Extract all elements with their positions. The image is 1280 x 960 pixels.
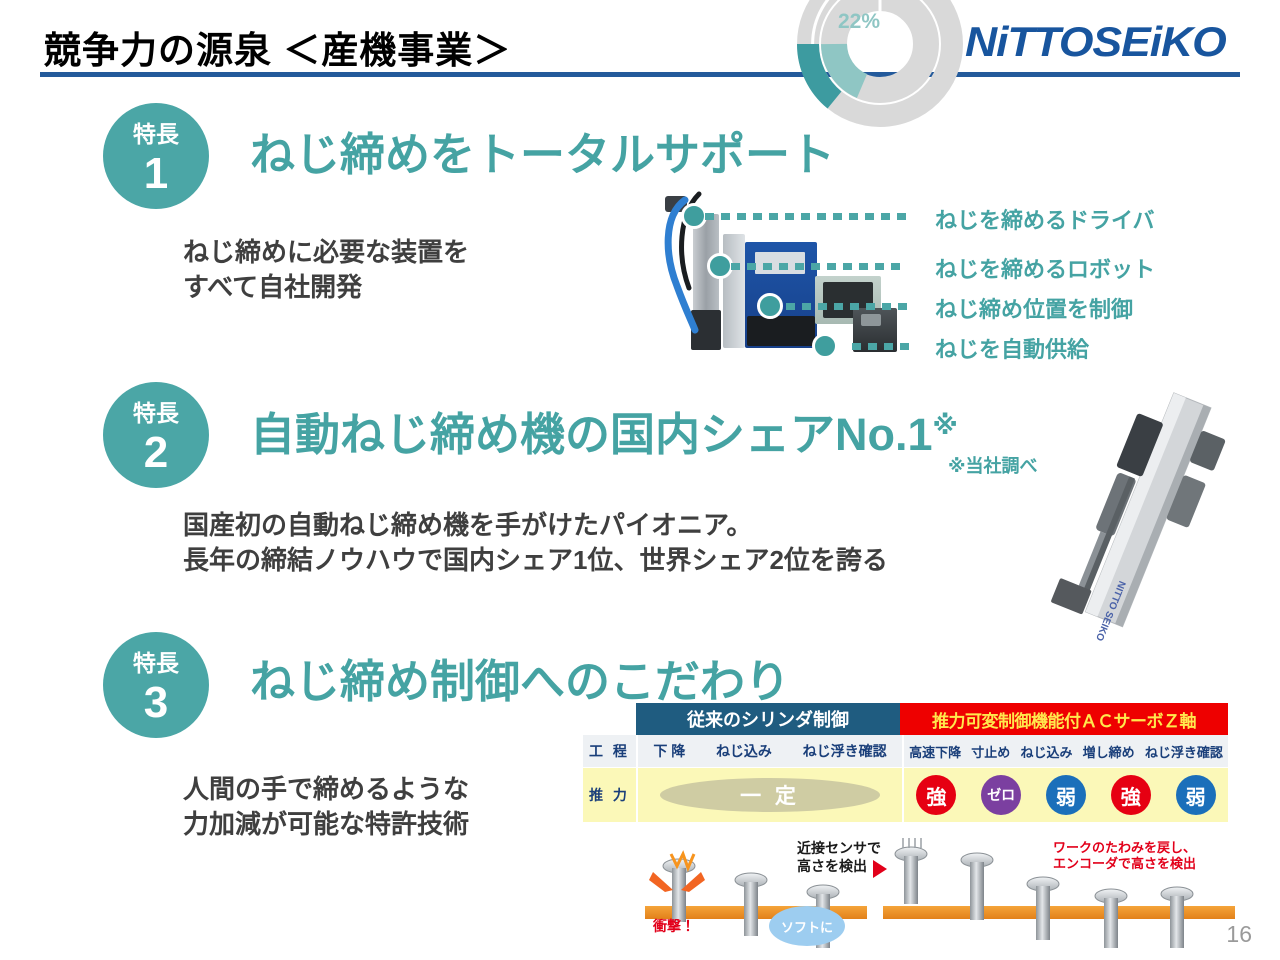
- callout-connector-1: [705, 213, 920, 220]
- feature-badge-3-label: 特長: [103, 632, 209, 675]
- feature-2-body: 国産初の自動ねじ締め機を手がけたパイオニア。 長年の締結ノウハウで国内シェア1位…: [183, 508, 888, 578]
- force-badge-5: 弱: [1176, 775, 1216, 815]
- slide-root: 競争力の源泉 ＜産機事業＞ 13% 22% NiTTOSEiKO 特長 1 ねじ…: [0, 0, 1280, 960]
- feature-2-note: ※当社調べ: [948, 452, 1038, 478]
- callout-connector-3: [786, 303, 921, 310]
- feature-2-heading-text: 自動ねじ締め機の国内シェアNo.1: [250, 409, 933, 460]
- donut-label-outer: 13%: [816, 0, 858, 6]
- feature-badge-1: 特長 1: [103, 103, 209, 209]
- feature-badge-2: 特長 2: [103, 382, 209, 488]
- feature-badge-2-number: 2: [103, 425, 209, 475]
- process-step: 高速下降: [909, 742, 961, 761]
- feature-badge-1-number: 1: [103, 146, 209, 196]
- force-cell-servo: 強 ゼロ 弱 強 弱: [902, 768, 1228, 822]
- process-step: ねじ込み: [716, 741, 772, 761]
- feature-3-heading: ねじ締め制御へのこだわり: [250, 645, 790, 710]
- feature-1-heading: ねじ締めをトータルサポート: [250, 118, 835, 183]
- table-header-spacer: [583, 703, 636, 735]
- callout-label-4: ねじを自動供給: [935, 332, 1089, 364]
- process-steps-conventional: 下 降 ねじ込み ねじ浮き確認: [636, 735, 902, 767]
- feature-badge-1-label: 特長: [103, 103, 209, 146]
- comparison-table: 従来のシリンダ制御 推力可変制御機能付ＡＣサーボＺ軸 工 程 下 降 ねじ込み …: [583, 703, 1228, 822]
- feature-badge-3-number: 3: [103, 675, 209, 725]
- page-number: 16: [1226, 921, 1252, 948]
- process-step: 下 降: [653, 741, 685, 761]
- force-badge-4: 強: [1111, 775, 1151, 815]
- feature-2-heading: 自動ねじ締め機の国内シェアNo.1※: [250, 398, 958, 463]
- process-step: 寸止め: [971, 742, 1010, 761]
- process-step: 増し締め: [1083, 742, 1135, 761]
- table-row-label-force: 推 力: [583, 768, 636, 822]
- callout-connector-4: [852, 343, 922, 350]
- callout-anchor-3: [757, 293, 783, 319]
- feature-2-heading-asterisk: ※: [933, 410, 958, 440]
- feature-2-product-photo: NITTO SEIKO: [1030, 385, 1260, 645]
- table-header-servo: 推力可変制御機能付ＡＣサーボＺ軸: [900, 703, 1228, 735]
- callout-anchor-2: [707, 253, 733, 279]
- soft-bubble: ソフトに: [769, 906, 845, 946]
- donut-chart-watermark: 13% 22%: [790, 0, 970, 134]
- process-step: ねじ込み: [1020, 742, 1072, 761]
- axis-unit-icon: NITTO SEIKO: [1030, 385, 1260, 645]
- page-title: 競争力の源泉 ＜産機事業＞: [44, 20, 511, 74]
- right-arrow-icon: [873, 860, 887, 878]
- callout-label-2: ねじを締めるロボット: [935, 252, 1155, 284]
- feature-badge-2-label: 特長: [103, 382, 209, 425]
- feature-3-body: 人間の手で締めるような 力加減が可能な特許技術: [183, 772, 469, 842]
- callout-label-1: ねじを締めるドライバ: [935, 203, 1155, 235]
- screw-illustration: 衝撃！ ソフトに 近接センサで 高さを検出 ワークのたわみを戻し、 エンコーダで…: [645, 838, 1235, 956]
- force-badge-1: 強: [916, 775, 956, 815]
- table-header-conventional: 従来のシリンダ制御: [636, 703, 900, 735]
- force-cell-conventional: 一 定: [636, 768, 902, 822]
- feature-badge-3: 特長 3: [103, 632, 209, 738]
- table-force-row: 推 力 一 定 強 ゼロ 弱 強 弱: [583, 768, 1228, 822]
- feature-1-body: ねじ締めに必要な装置を すべて自社開発: [183, 235, 469, 305]
- force-constant-ellipse: 一 定: [660, 778, 880, 812]
- process-step: ねじ浮き確認: [1145, 742, 1223, 761]
- process-step: ねじ浮き確認: [803, 741, 887, 761]
- donut-label-inner: 22%: [838, 10, 880, 34]
- impact-label: 衝撃！: [653, 916, 695, 936]
- callout-anchor-1: [681, 203, 707, 229]
- force-badge-3: 弱: [1046, 775, 1086, 815]
- callout-label-3: ねじ締め位置を制御: [935, 292, 1133, 324]
- table-row-label-process: 工 程: [583, 735, 636, 767]
- callout-connector-2: [731, 263, 921, 270]
- callout-anchor-4: [812, 333, 838, 359]
- sensor-note: 近接センサで 高さを検出: [797, 840, 881, 875]
- company-logo: NiTTOSEiKO: [965, 18, 1226, 66]
- encoder-note: ワークのたわみを戻し、 エンコーダで高さを検出: [1053, 840, 1196, 873]
- force-badge-2: ゼロ: [981, 775, 1021, 815]
- table-header-row: 従来のシリンダ制御 推力可変制御機能付ＡＣサーボＺ軸: [583, 703, 1228, 735]
- process-steps-servo: 高速下降 寸止め ねじ込み 増し締め ねじ浮き確認: [902, 735, 1228, 767]
- table-process-row: 工 程 下 降 ねじ込み ねじ浮き確認 高速下降 寸止め ねじ込み 増し締め ね…: [583, 735, 1228, 768]
- header-divider: [40, 72, 1240, 77]
